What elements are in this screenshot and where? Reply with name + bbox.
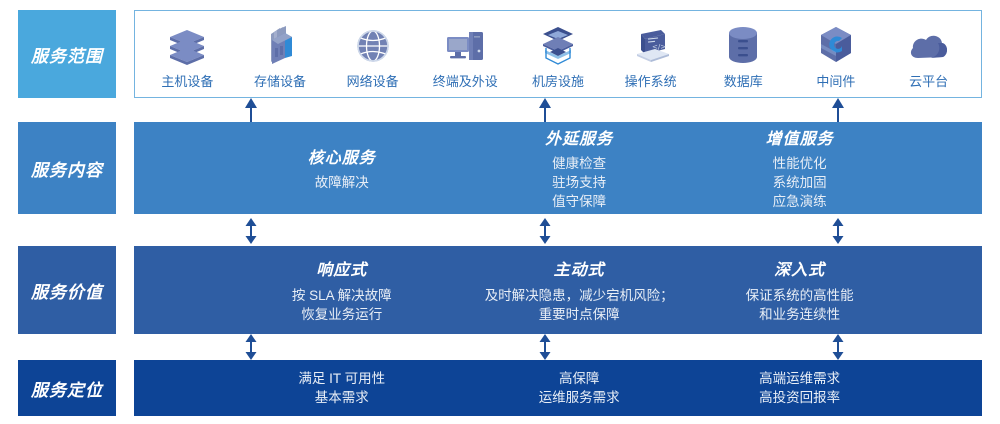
connector-content-value-3 — [830, 218, 846, 244]
scope-item-label: 数据库 — [724, 71, 763, 90]
column-line: 重要时点保障 — [539, 305, 620, 324]
connector-scope-content-3 — [830, 98, 846, 122]
cloud-icon — [907, 24, 951, 66]
scope-item-label: 云平台 — [909, 71, 948, 90]
column-line: 值守保障 — [552, 192, 606, 211]
connector-content-value-2 — [537, 218, 553, 244]
column-line: 恢复业务运行 — [301, 305, 382, 324]
scope-item-facility[interactable]: 机房设施 — [516, 18, 600, 90]
position-column-assurance[interactable]: 高保障 运维服务需求 — [539, 360, 620, 416]
desktop-pc-icon — [443, 24, 487, 66]
row-label-service-value: 服务价值 — [18, 246, 116, 334]
column-line: 健康检查 — [552, 154, 606, 173]
row-label-service-content: 服务内容 — [18, 122, 116, 214]
column-line: 故障解决 — [315, 173, 369, 192]
column-line: 高端运维需求 — [759, 369, 840, 388]
column-title: 主动式 — [554, 256, 605, 280]
column-line: 高投资回报率 — [759, 388, 840, 407]
column-line: 运维服务需求 — [539, 388, 620, 407]
connector-content-value-1 — [243, 218, 259, 244]
service-value-panel: 响应式 按 SLA 解决故障 恢复业务运行 主动式 及时解决隐患，减少宕机风险；… — [134, 246, 982, 334]
service-content-panel: 核心服务 故障解决 外延服务 健康检查 驻场支持 值守保障 增值服务 性能优化 … — [134, 122, 982, 214]
service-scope-panel: 主机设备 — [134, 10, 982, 98]
scope-item-endpoint[interactable]: 终端及外设 — [423, 18, 507, 90]
value-column-proactive[interactable]: 主动式 及时解决隐患，减少宕机风险； 重要时点保障 — [485, 246, 674, 334]
connector-scope-content-1 — [243, 98, 259, 122]
scope-item-label: 中间件 — [816, 71, 855, 90]
row-service-position: 服务定位 满足 IT 可用性 基本需求 高保障 运维服务需求 高端运维需求 高投… — [0, 360, 1000, 416]
value-column-indepth[interactable]: 深入式 保证系统的高性能 和业务连续性 — [746, 246, 854, 334]
column-line: 保证系统的高性能 — [746, 286, 854, 305]
scope-item-label: 机房设施 — [532, 71, 584, 90]
server-stack-icon — [166, 24, 208, 66]
scope-item-storage[interactable]: 存储设备 — [238, 18, 322, 90]
row-service-scope: 服务范围 主机设备 — [0, 10, 1000, 98]
column-line: 应急演练 — [773, 192, 827, 211]
value-column-reactive[interactable]: 响应式 按 SLA 解决故障 恢复业务运行 — [292, 246, 392, 334]
content-column-value-added[interactable]: 增值服务 性能优化 系统加固 应急演练 — [766, 122, 834, 214]
os-laptop-icon: </> — [629, 24, 673, 66]
column-line: 性能优化 — [773, 154, 827, 173]
scope-item-label: 主机设备 — [161, 71, 213, 90]
scope-item-label: 终端及外设 — [433, 71, 498, 90]
scope-item-label: 存储设备 — [254, 71, 306, 90]
storage-array-icon — [259, 24, 301, 66]
row-service-value: 服务价值 响应式 按 SLA 解决故障 恢复业务运行 主动式 及时解决隐患，减少… — [0, 246, 1000, 334]
content-column-core[interactable]: 核心服务 故障解决 — [308, 122, 376, 214]
position-column-basic[interactable]: 满足 IT 可用性 基本需求 — [298, 360, 385, 416]
row-service-content: 服务内容 核心服务 故障解决 外延服务 健康检查 驻场支持 值守保障 增值服务 … — [0, 122, 1000, 214]
column-line: 按 SLA 解决故障 — [292, 286, 392, 305]
content-column-extended[interactable]: 外延服务 健康检查 驻场支持 值守保障 — [545, 122, 613, 214]
scope-item-label: 网络设备 — [347, 71, 399, 90]
middleware-cube-icon — [816, 24, 856, 66]
column-title: 增值服务 — [766, 125, 834, 149]
row-label-service-position: 服务定位 — [18, 360, 116, 416]
scope-item-host[interactable]: 主机设备 — [145, 18, 229, 90]
service-position-panel: 满足 IT 可用性 基本需求 高保障 运维服务需求 高端运维需求 高投资回报率 — [134, 360, 982, 416]
column-line: 系统加固 — [773, 173, 827, 192]
scope-item-label: 操作系统 — [625, 71, 677, 90]
column-title: 外延服务 — [545, 125, 613, 149]
column-line: 基本需求 — [315, 388, 369, 407]
scope-item-cloud[interactable]: 云平台 — [887, 18, 971, 90]
column-title: 深入式 — [774, 256, 825, 280]
connector-value-position-3 — [830, 334, 846, 360]
scope-item-os[interactable]: </> 操作系统 — [609, 18, 693, 90]
datacenter-facility-icon — [536, 24, 580, 66]
connector-value-position-1 — [243, 334, 259, 360]
globe-network-icon — [353, 24, 393, 66]
database-cylinder-icon — [723, 24, 763, 66]
connector-scope-content-2 — [537, 98, 553, 122]
scope-item-database[interactable]: 数据库 — [701, 18, 785, 90]
column-line: 驻场支持 — [552, 173, 606, 192]
row-label-service-scope: 服务范围 — [18, 10, 116, 98]
column-line: 及时解决隐患，减少宕机风险； — [485, 286, 674, 305]
column-line: 和业务连续性 — [759, 305, 840, 324]
column-line: 满足 IT 可用性 — [298, 369, 385, 388]
column-line: 高保障 — [559, 369, 600, 388]
position-column-highend[interactable]: 高端运维需求 高投资回报率 — [759, 360, 840, 416]
column-title: 响应式 — [316, 256, 367, 280]
column-title: 核心服务 — [308, 144, 376, 168]
connector-value-position-2 — [537, 334, 553, 360]
scope-item-network[interactable]: 网络设备 — [331, 18, 415, 90]
scope-item-middleware[interactable]: 中间件 — [794, 18, 878, 90]
diagram-canvas: 服务范围 主机设备 — [0, 0, 1000, 424]
